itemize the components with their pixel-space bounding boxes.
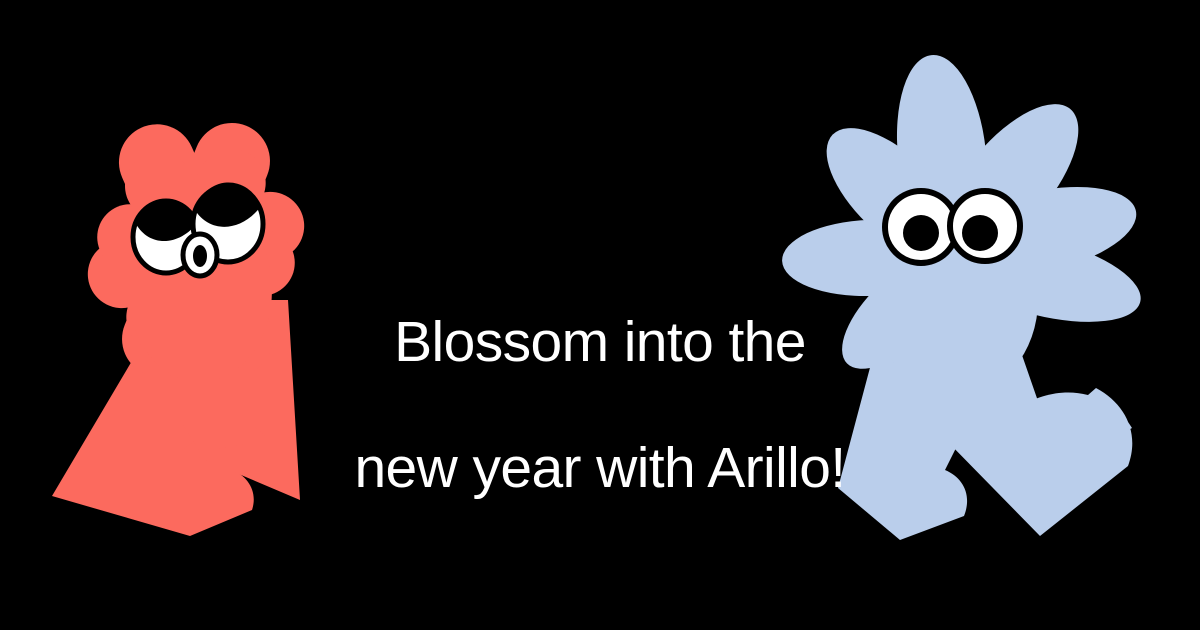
blue-right-eye-pupil (962, 215, 998, 251)
blue-left-eye-pupil (903, 215, 939, 251)
promo-banner: Blossom into the new year with Arillo! (0, 0, 1200, 630)
red-mouth-inner (193, 245, 207, 267)
illustration-canvas (0, 0, 1200, 630)
